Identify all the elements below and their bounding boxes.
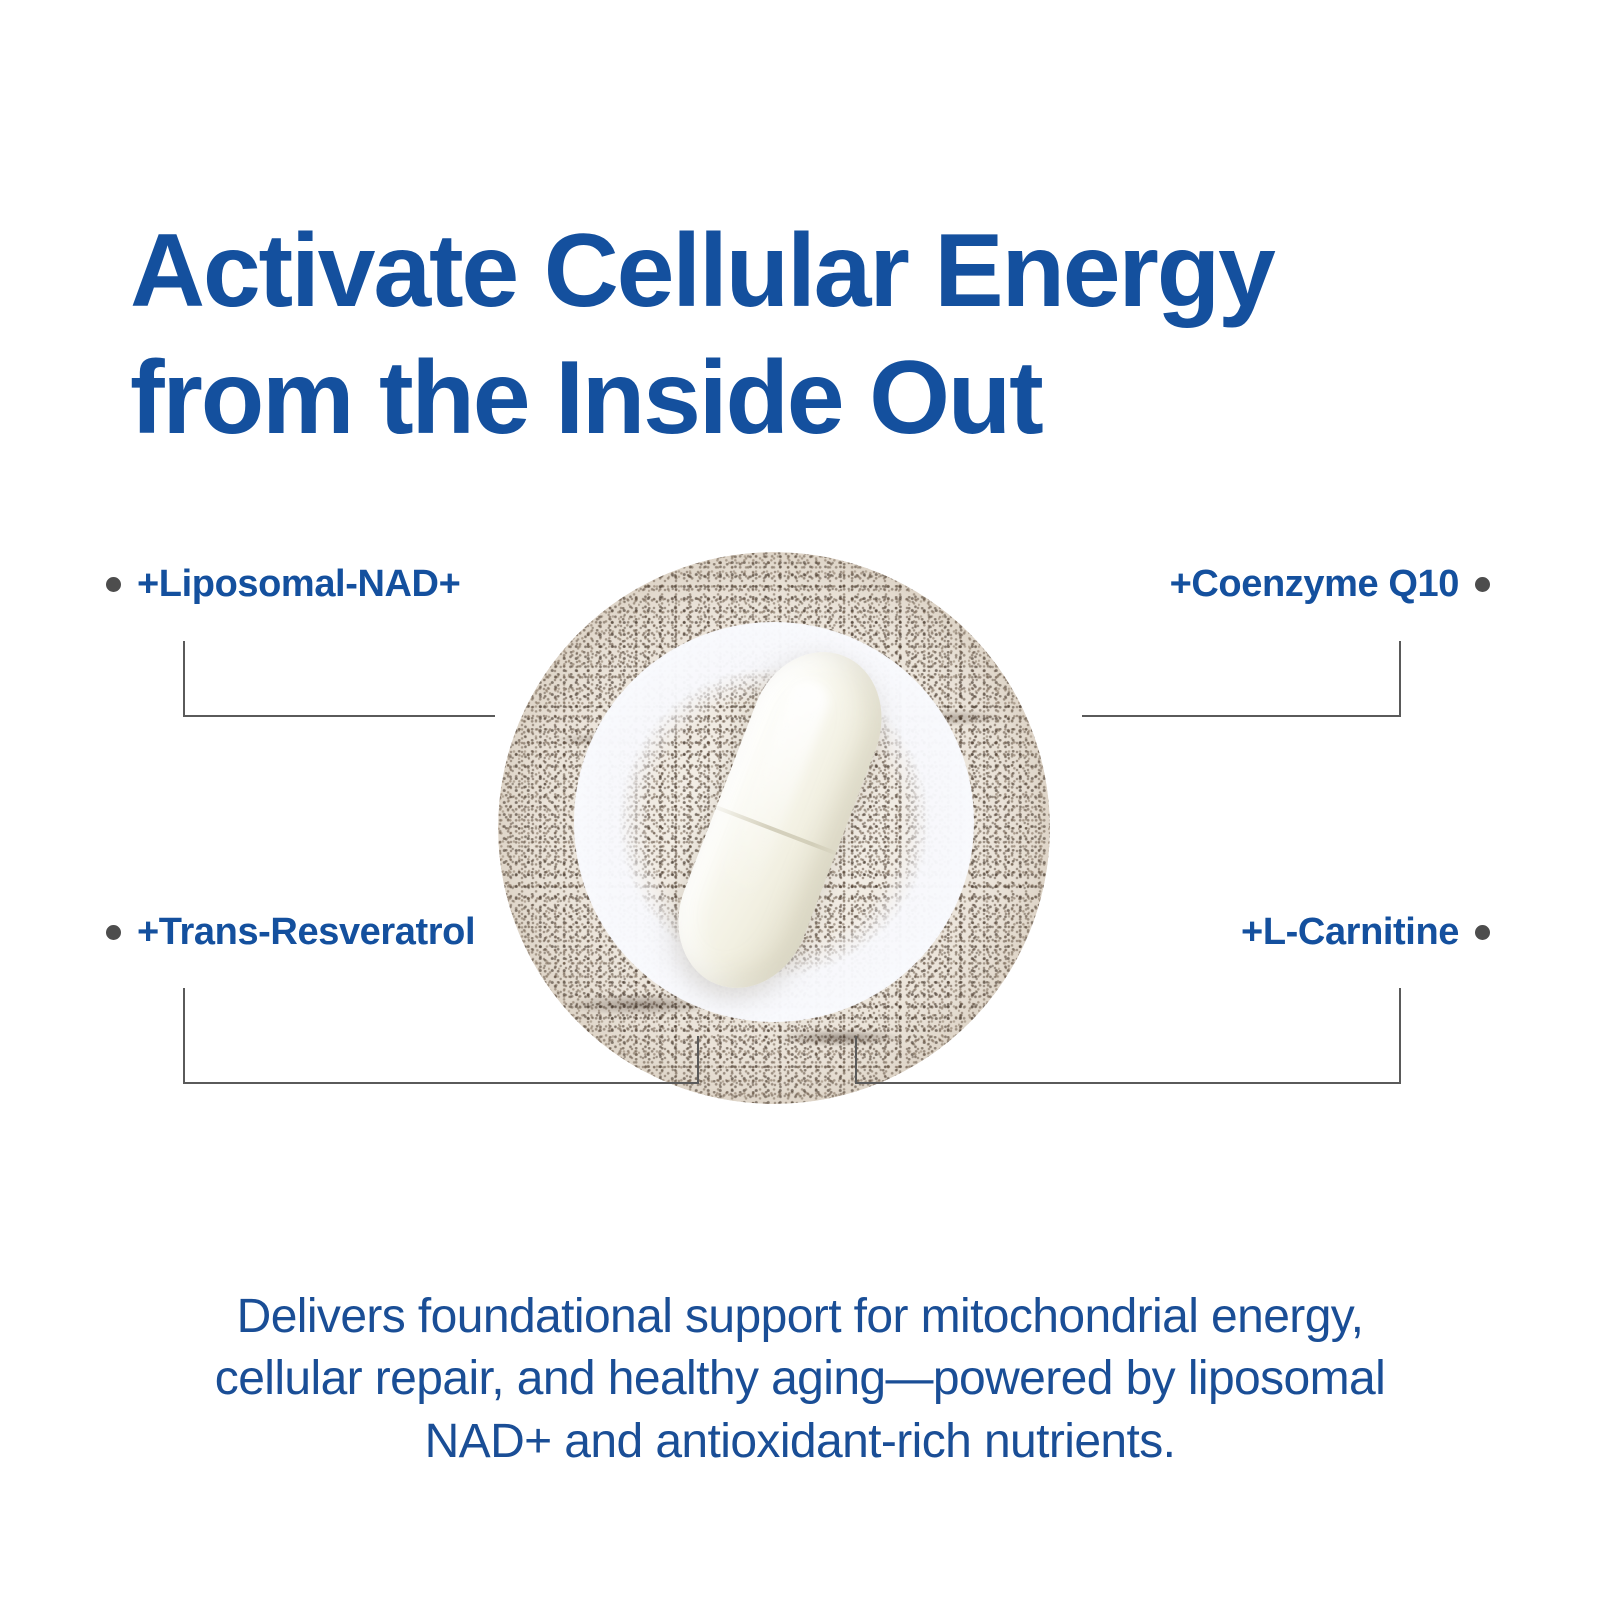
callout-liposomal-nad: +Liposomal-NAD+ [106, 563, 460, 606]
page-title: Activate Cellular Energy from the Inside… [130, 208, 1490, 462]
headline-line-2: from the Inside Out [130, 335, 1490, 462]
leader-line-resveratrol-vertical [183, 988, 185, 1084]
description-line-1: Delivers foundational support for mitoch… [100, 1286, 1500, 1348]
description-line-2: cellular repair, and healthy aging—power… [100, 1348, 1500, 1410]
callout-label-l-carnitine: +L-Carnitine [1241, 911, 1459, 954]
callout-l-carnitine: +L-Carnitine [1241, 911, 1490, 954]
leader-line-coq10-vertical [1399, 641, 1401, 717]
leader-line-nad-horizontal [183, 715, 495, 717]
bullet-dot-icon [106, 577, 121, 592]
callout-label-liposomal-nad: +Liposomal-NAD+ [137, 563, 460, 606]
description-paragraph: Delivers foundational support for mitoch… [100, 1286, 1500, 1473]
leader-line-lcarnitine-horizontal [855, 1082, 1401, 1084]
callout-label-coenzyme-q10: +Coenzyme Q10 [1170, 563, 1459, 606]
headline-line-1: Activate Cellular Energy [130, 208, 1490, 335]
callout-coenzyme-q10: +Coenzyme Q10 [1170, 563, 1490, 606]
bullet-dot-icon [1475, 577, 1490, 592]
callout-trans-resveratrol: +Trans-Resveratrol [106, 911, 475, 954]
leader-line-coq10-horizontal [1082, 715, 1401, 717]
leader-line-lcarnitine-vertical-end [855, 1036, 857, 1084]
leader-line-resveratrol-horizontal [183, 1082, 699, 1084]
description-line-3: NAD+ and antioxidant-rich nutrients. [100, 1411, 1500, 1473]
leader-line-resveratrol-vertical-end [697, 1036, 699, 1084]
bullet-dot-icon [1475, 925, 1490, 940]
leader-line-lcarnitine-vertical [1399, 988, 1401, 1084]
leader-line-nad-vertical [183, 641, 185, 717]
callout-label-trans-resveratrol: +Trans-Resveratrol [137, 911, 475, 954]
bullet-dot-icon [106, 925, 121, 940]
product-image [498, 552, 1050, 1104]
